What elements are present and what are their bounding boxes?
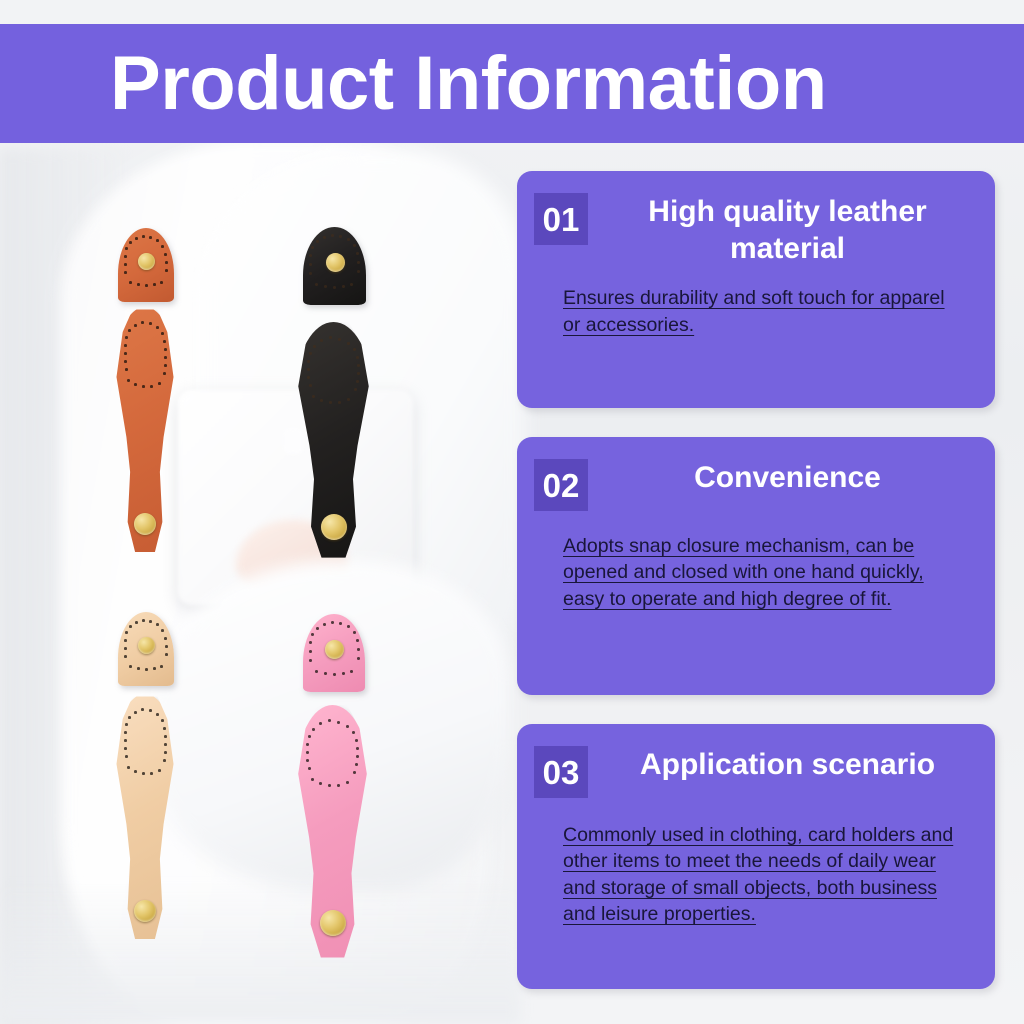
beige-strap-snap-button	[134, 900, 156, 922]
feature-card-02-body: Adopts snap closure mechanism, can be op…	[534, 533, 971, 612]
black-tab	[303, 227, 366, 305]
page-title: Product Information	[0, 46, 827, 122]
feature-card-03-number-badge: 03	[534, 746, 588, 798]
orange-tab	[118, 228, 174, 302]
pink-strap-snap-button	[320, 910, 346, 936]
black-strap	[296, 322, 371, 560]
feature-card-03[interactable]: 03 Application scenario Commonly used in…	[517, 724, 995, 989]
black-tab-snap-button	[326, 253, 345, 272]
black-strap-snap-button	[321, 514, 347, 540]
feature-card-01-head: 01 High quality leather material	[534, 193, 971, 267]
feature-card-02-head: 02 Convenience	[534, 459, 971, 511]
orange-tab-snap-button	[138, 253, 155, 270]
beige-tab	[118, 612, 174, 686]
header-banner: Product Information	[0, 24, 1024, 143]
feature-card-01[interactable]: 01 High quality leather material Ensures…	[517, 171, 995, 408]
product-strap-group	[0, 0, 515, 1024]
beige-tab-snap-button	[138, 637, 155, 654]
product-information-infographic: Product Information 01 High quality leat…	[0, 0, 1024, 1024]
feature-card-01-body: Ensures durability and soft touch for ap…	[534, 285, 971, 338]
feature-card-03-body: Commonly used in clothing, card holders …	[534, 822, 971, 927]
pink-tab	[303, 614, 365, 692]
orange-strap	[114, 307, 176, 557]
feature-card-02-title: Convenience	[604, 459, 971, 496]
pink-strap	[296, 705, 369, 960]
beige-strap	[114, 694, 176, 944]
feature-card-list: 01 High quality leather material Ensures…	[517, 171, 995, 989]
feature-card-01-title: High quality leather material	[604, 193, 971, 267]
feature-card-02-number-badge: 02	[534, 459, 588, 511]
feature-card-02[interactable]: 02 Convenience Adopts snap closure mecha…	[517, 437, 995, 695]
pink-tab-snap-button	[325, 640, 344, 659]
feature-card-03-title: Application scenario	[604, 746, 971, 783]
feature-card-03-head: 03 Application scenario	[534, 746, 971, 798]
feature-card-01-number-badge: 01	[534, 193, 588, 245]
orange-strap-snap-button	[134, 513, 156, 535]
